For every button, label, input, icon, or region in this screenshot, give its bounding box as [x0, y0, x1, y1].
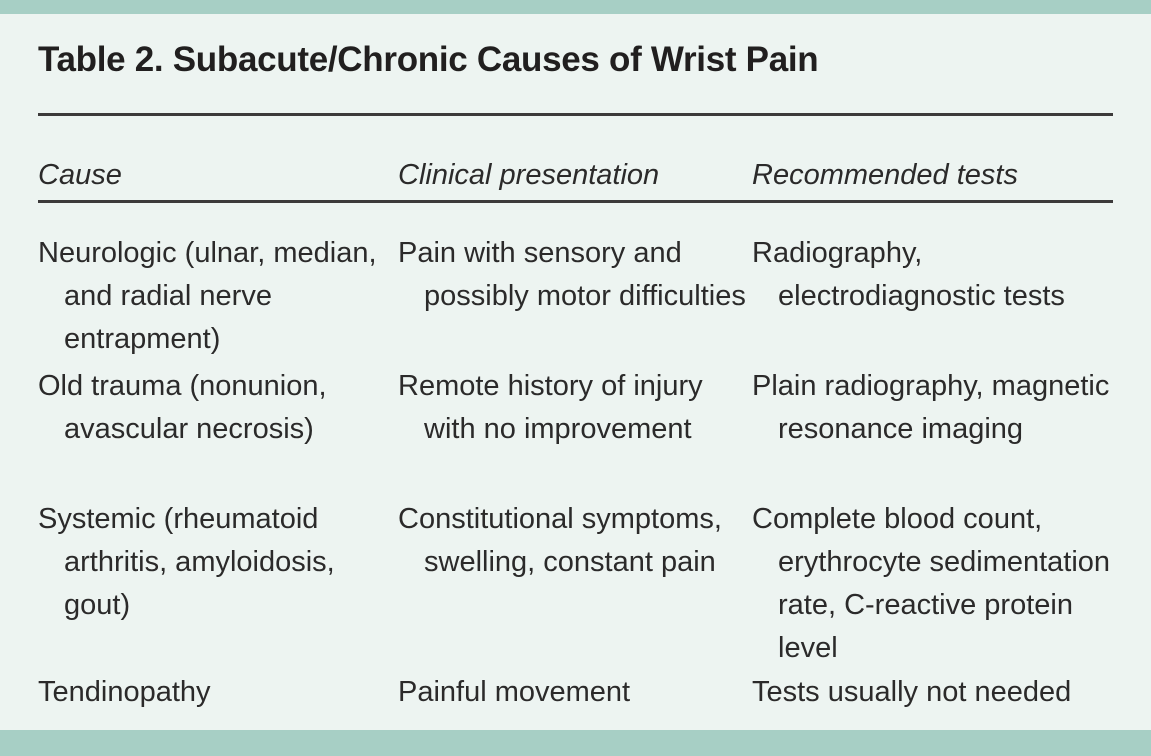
cell-presentation: Pain with sensory and possibly motor dif… [398, 232, 752, 318]
cell-cause: Neurologic (ulnar, median, and radial ne… [38, 232, 398, 361]
cell-tests: Complete blood count, erythrocyte sedime… [752, 498, 1113, 670]
cell-presentation: Constitutional symptoms, swelling, const… [398, 498, 752, 584]
cell-presentation: Remote history of injury with no improve… [398, 365, 752, 451]
column-header-cause: Cause [38, 154, 398, 197]
cell-tests: Tests usually not needed [752, 671, 1113, 714]
cell-cause: Tendinopathy [38, 671, 398, 714]
title-divider [38, 113, 1113, 116]
top-accent-band [0, 0, 1151, 14]
column-header-recommended-tests: Recommended tests [752, 154, 1113, 197]
cell-tests: Plain radiography, magnetic resonance im… [752, 365, 1113, 451]
header-divider [38, 200, 1113, 203]
table-body-area: Table 2. Subacute/Chronic Causes of Wris… [0, 14, 1151, 730]
bottom-accent-band [0, 730, 1151, 756]
column-header-clinical-presentation: Clinical presentation [398, 154, 752, 197]
cell-cause: Old trauma (nonunion, avascular necrosis… [38, 365, 398, 451]
cell-tests: Radiography, electrodiagnostic tests [752, 232, 1113, 318]
table-figure: Table 2. Subacute/Chronic Causes of Wris… [0, 0, 1151, 756]
page-title: Table 2. Subacute/Chronic Causes of Wris… [38, 40, 818, 80]
cell-presentation: Painful movement [398, 671, 752, 714]
cell-cause: Systemic (rheumatoid arthritis, amyloido… [38, 498, 398, 627]
